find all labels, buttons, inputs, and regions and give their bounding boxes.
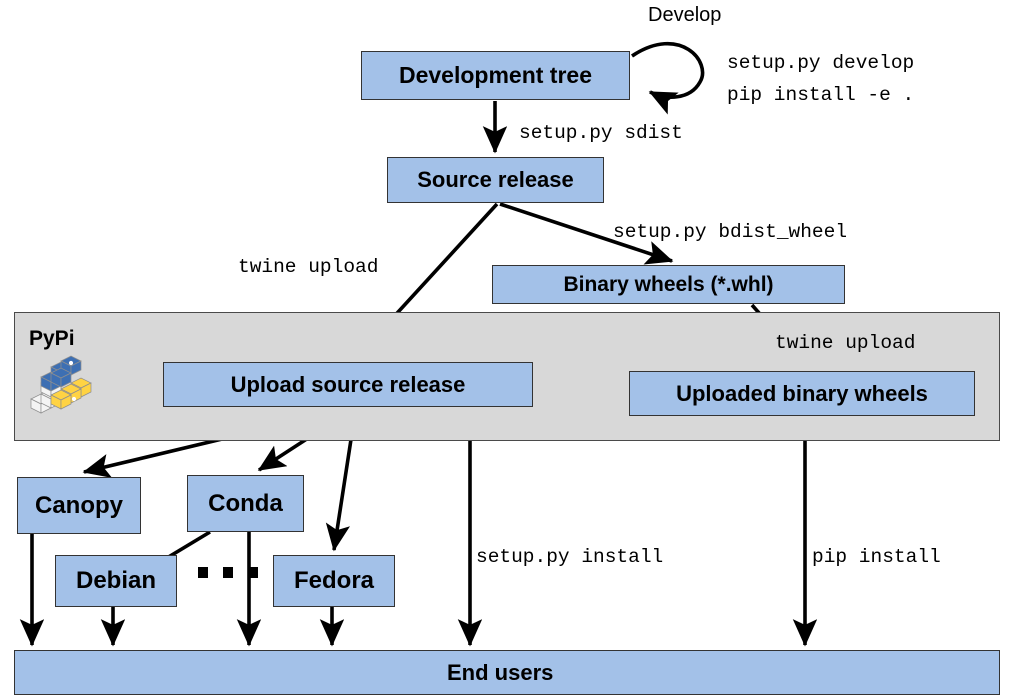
node-label: Binary wheels (*.whl) bbox=[563, 273, 773, 297]
node-uploaded-binary-wheels[interactable]: Uploaded binary wheels bbox=[629, 371, 975, 416]
diagram-canvas: PyPi bbox=[0, 0, 1009, 698]
node-upload-source-release[interactable]: Upload source release bbox=[163, 362, 533, 407]
edge-label-setup-py-bdist-wheel: setup.py bdist_wheel bbox=[613, 221, 847, 243]
node-label: Development tree bbox=[399, 62, 592, 89]
ellipsis-dot bbox=[198, 567, 208, 578]
node-label: Upload source release bbox=[231, 372, 466, 398]
node-canopy[interactable]: Canopy bbox=[17, 477, 141, 534]
node-source-release[interactable]: Source release bbox=[387, 157, 604, 203]
node-development-tree[interactable]: Development tree bbox=[361, 51, 630, 100]
node-binary-wheels[interactable]: Binary wheels (*.whl) bbox=[492, 265, 845, 304]
node-label: Fedora bbox=[294, 567, 374, 595]
node-conda[interactable]: Conda bbox=[187, 475, 304, 532]
edge-dev-self-loop bbox=[632, 44, 703, 97]
ellipsis-dot bbox=[223, 567, 233, 578]
pypi-panel-label: PyPi bbox=[29, 327, 75, 351]
node-label: Uploaded binary wheels bbox=[676, 381, 928, 407]
edge-label-develop: Develop bbox=[648, 4, 721, 27]
node-fedora[interactable]: Fedora bbox=[273, 555, 395, 607]
edge-label-setup-py-sdist: setup.py sdist bbox=[519, 122, 683, 144]
node-label: Source release bbox=[417, 167, 574, 193]
ellipsis-dot bbox=[248, 567, 258, 578]
node-label: Canopy bbox=[35, 492, 123, 520]
node-label: Debian bbox=[76, 567, 156, 595]
edge-label-setup-py-install: setup.py install bbox=[476, 546, 663, 568]
node-debian[interactable]: Debian bbox=[55, 555, 177, 607]
edge-label-pip-install-editable: pip install -e . bbox=[727, 84, 914, 106]
node-end-users[interactable]: End users bbox=[14, 650, 1000, 695]
node-label: Conda bbox=[208, 490, 283, 518]
edge-label-pip-install: pip install bbox=[812, 546, 941, 568]
more-distros-ellipsis bbox=[198, 567, 258, 578]
edge-label-twine-upload-source: twine upload bbox=[238, 256, 378, 278]
edge-label-setup-py-develop: setup.py develop bbox=[727, 52, 914, 74]
node-label: End users bbox=[447, 660, 553, 686]
pypi-python-blocks-logo bbox=[27, 355, 93, 417]
edge-label-twine-upload-wheels: twine upload bbox=[775, 332, 915, 354]
